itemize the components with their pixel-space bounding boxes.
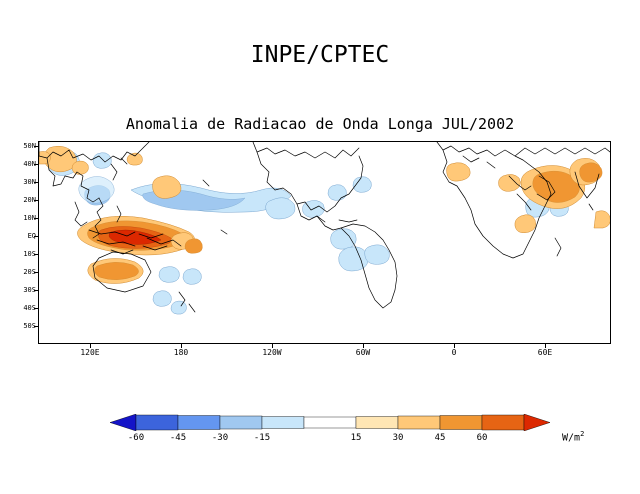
x-tick-label: 60W bbox=[343, 348, 383, 357]
y-tick-mark bbox=[34, 326, 38, 327]
colorbar-swatches bbox=[110, 414, 550, 431]
y-tick-label: 40N bbox=[10, 160, 36, 168]
map-canvas bbox=[39, 142, 610, 343]
x-tick-label: 180 bbox=[161, 348, 201, 357]
y-tick-mark bbox=[34, 272, 38, 273]
y-tick-mark bbox=[34, 236, 38, 237]
y-tick-mark bbox=[34, 218, 38, 219]
page-title: INPE/CPTEC bbox=[0, 42, 640, 68]
chart-title: Anomalia de Radiacao de Onda Longa JUL/2… bbox=[0, 115, 640, 133]
x-tick-label: 60E bbox=[525, 348, 565, 357]
y-tick-mark bbox=[34, 164, 38, 165]
colorbar-tick-label: 30 bbox=[383, 433, 413, 443]
colorbar-tick-label: 15 bbox=[341, 433, 371, 443]
y-tick-label: EQ bbox=[10, 232, 36, 240]
y-tick-label: 30N bbox=[10, 178, 36, 186]
y-tick-label: 20N bbox=[10, 196, 36, 204]
y-tick-mark bbox=[34, 200, 38, 201]
y-tick-label: 40S bbox=[10, 304, 36, 312]
colorbar-tick-label: -30 bbox=[205, 433, 235, 443]
y-tick-mark bbox=[34, 182, 38, 183]
units-text: W/m bbox=[562, 432, 580, 443]
y-tick-label: 50S bbox=[10, 322, 36, 330]
colorbar-tick-label: -15 bbox=[247, 433, 277, 443]
y-tick-label: 10S bbox=[10, 250, 36, 258]
colorbar-tick-label: 45 bbox=[425, 433, 455, 443]
anomaly-shading bbox=[39, 146, 610, 314]
colorbar-tick-label: -45 bbox=[163, 433, 193, 443]
map-plot-area bbox=[38, 141, 611, 344]
y-tick-label: 30S bbox=[10, 286, 36, 294]
colorbar-tick-label: -60 bbox=[121, 433, 151, 443]
x-tick-label: 120W bbox=[252, 348, 292, 357]
x-tick-label: 120E bbox=[70, 348, 110, 357]
colorbar: -60 -45 -30 -15 15 30 45 60 bbox=[110, 414, 570, 474]
y-tick-mark bbox=[34, 146, 38, 147]
units-exponent: 2 bbox=[580, 430, 584, 438]
y-tick-mark bbox=[34, 254, 38, 255]
y-tick-label: 10N bbox=[10, 214, 36, 222]
x-tick-label: 0 bbox=[434, 348, 474, 357]
y-tick-mark bbox=[34, 290, 38, 291]
colorbar-units: W/m2 bbox=[562, 430, 584, 443]
y-tick-label: 50N bbox=[10, 142, 36, 150]
y-tick-mark bbox=[34, 308, 38, 309]
y-tick-label: 20S bbox=[10, 268, 36, 276]
colorbar-tick-label: 60 bbox=[467, 433, 497, 443]
